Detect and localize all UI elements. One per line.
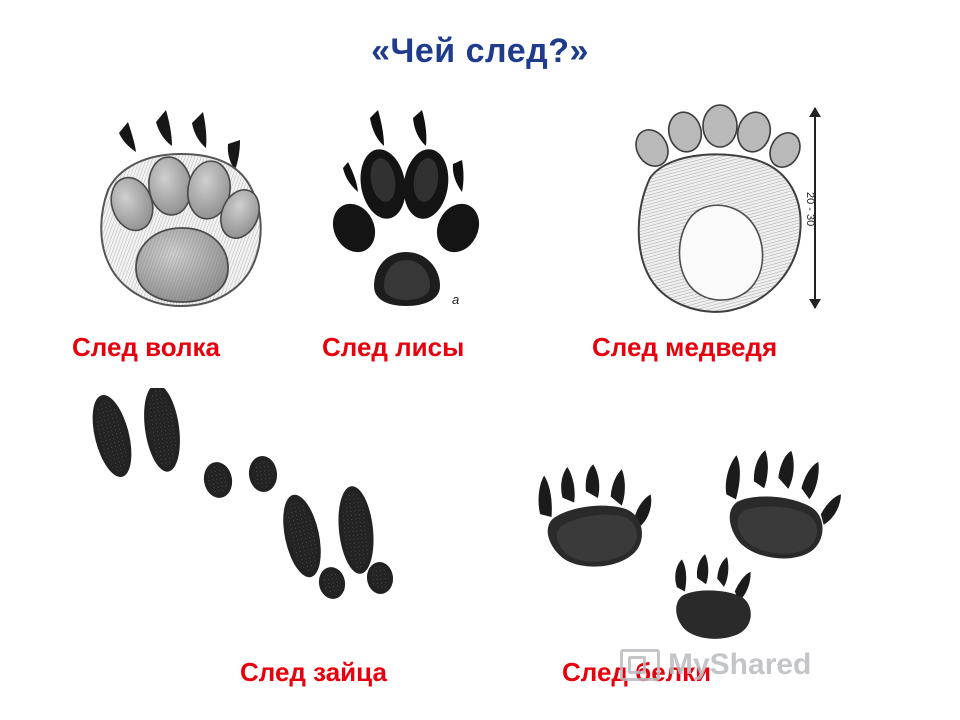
- caption-wolf: След волка: [72, 332, 220, 363]
- slide-canvas: «Чей след?»: [0, 0, 960, 720]
- caption-squirrel: След белки: [562, 657, 711, 688]
- measure-label: 20 - 30: [804, 192, 816, 226]
- bear-size-measure: 20 - 30: [800, 108, 830, 308]
- measure-arrow-top: [809, 107, 821, 117]
- squirrel-track-print: [490, 445, 870, 665]
- caption-fox: След лисы: [322, 332, 464, 363]
- hare-track-print: [70, 388, 430, 608]
- fox-paw-print: [330, 100, 500, 315]
- measure-arrow-bottom: [809, 299, 821, 309]
- bear-paw-print: [620, 100, 820, 320]
- caption-bear: След медведя: [592, 332, 777, 363]
- caption-hare: След зайца: [240, 657, 387, 688]
- wolf-paw-print: [78, 100, 288, 320]
- page-title: «Чей след?»: [0, 32, 960, 71]
- fox-figure-letter: а: [452, 292, 459, 307]
